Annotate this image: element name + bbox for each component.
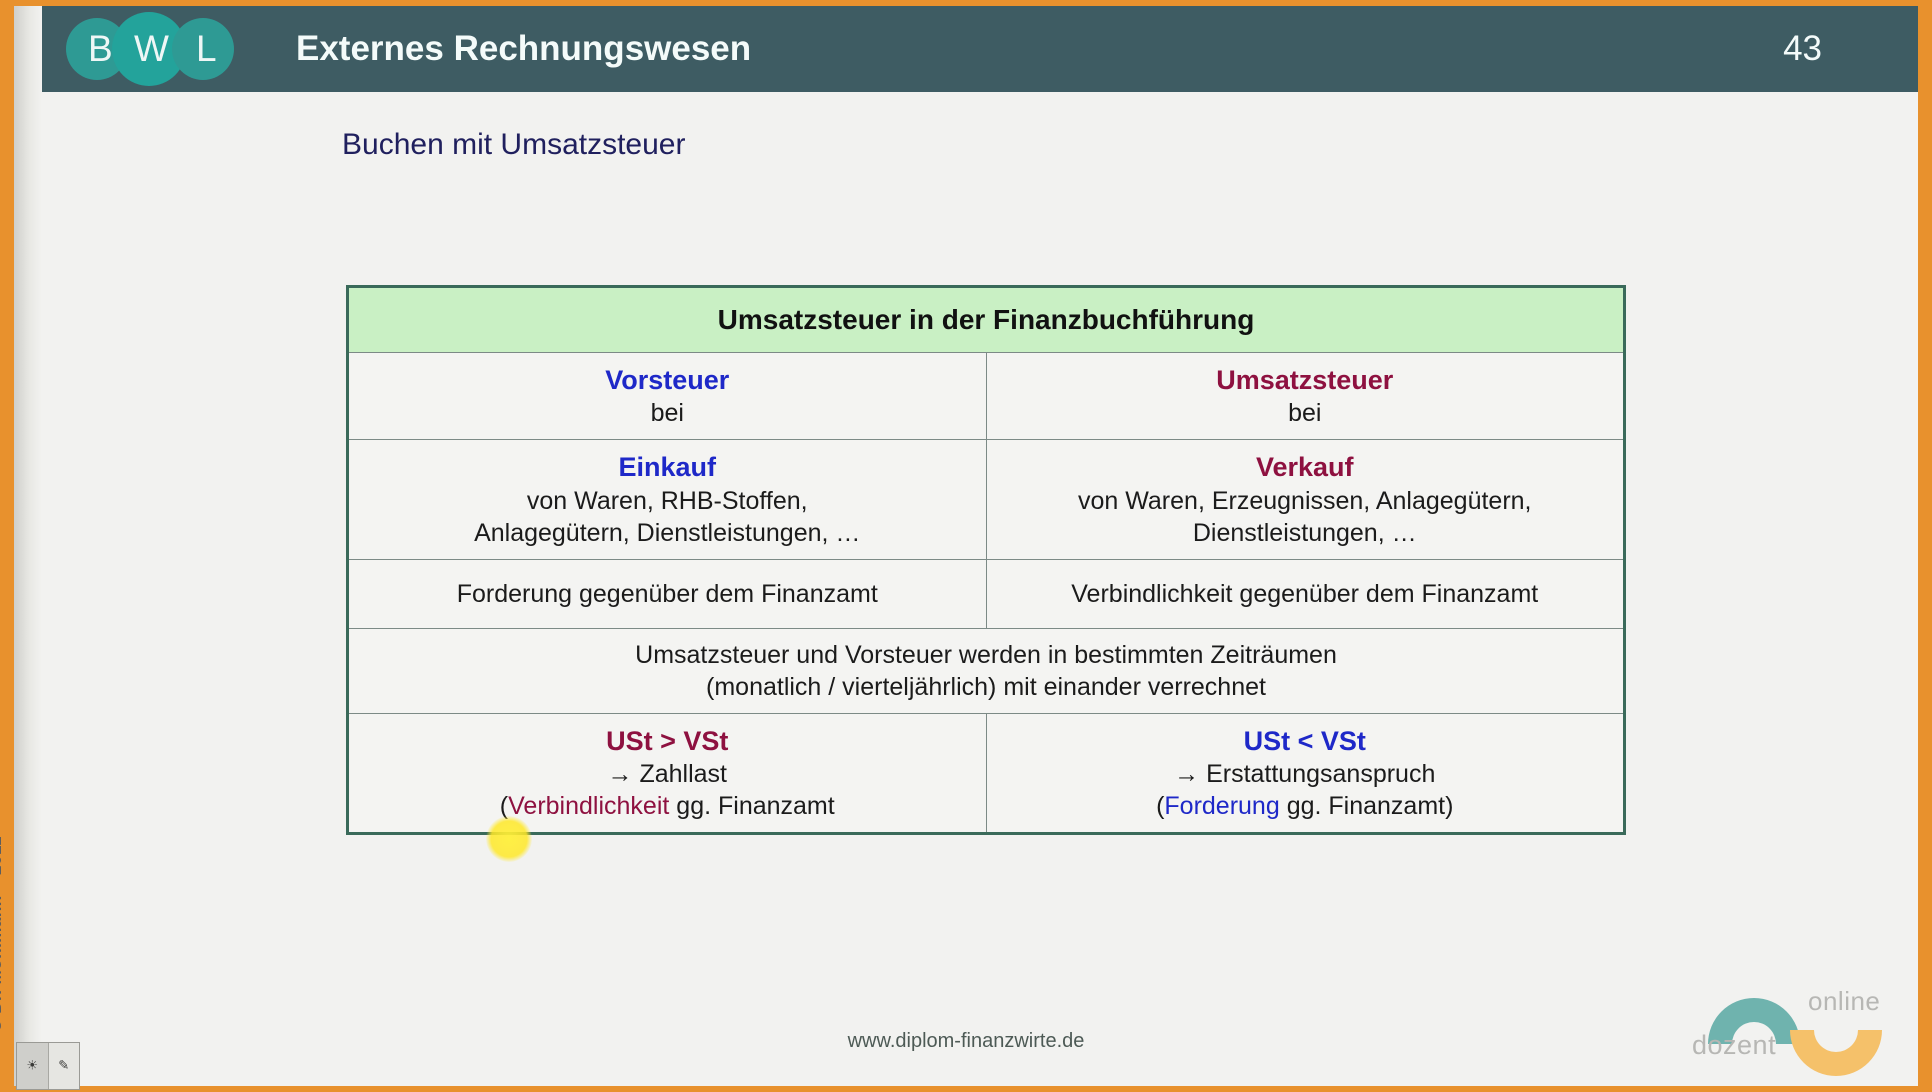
logo-letter-b: B xyxy=(88,28,114,70)
table-title-cell: Umsatzsteuer in der Finanzbuchführung xyxy=(348,287,1625,353)
umsatzsteuer-heading: Umsatzsteuer xyxy=(1001,363,1610,398)
cell-forderung: Forderung gegenüber dem Finanzamt xyxy=(348,559,987,628)
einkauf-line-2: Anlagegütern, Dienstleistungen, … xyxy=(363,517,972,549)
logo-letter-l: L xyxy=(196,28,218,70)
verkauf-heading: Verkauf xyxy=(1001,450,1610,485)
erstattung-line: → Erstattungsanspruch xyxy=(1001,758,1610,790)
verkauf-line-2: Dienstleistungen, … xyxy=(1001,517,1610,549)
table-row: Vorsteuer bei Umsatzsteuer bei xyxy=(348,352,1625,440)
copyright-text: © Dr. Möhlmann – 2011 xyxy=(0,836,6,1032)
verrechnung-line-2: (monatlich / vierteljährlich) mit einand… xyxy=(363,671,1609,703)
paren-open-left: ( xyxy=(500,792,508,820)
table-row-result: USt > VSt → Zahllast (Verbindlichkeit gg… xyxy=(348,713,1625,834)
table-row: Forderung gegenüber dem Finanzamt Verbin… xyxy=(348,559,1625,628)
page-title: Externes Rechnungswesen xyxy=(296,29,751,69)
cell-erstattung: USt < VSt → Erstattungsanspruch (Forderu… xyxy=(986,713,1625,834)
vorsteuer-heading: Vorsteuer xyxy=(363,363,972,398)
cell-umsatzsteuer: Umsatzsteuer bei xyxy=(986,352,1625,440)
bwl-logo: B W L xyxy=(56,6,234,92)
cell-vorsteuer: Vorsteuer bei xyxy=(348,352,987,440)
footer-url: www.diplom-finanzwirte.de xyxy=(0,1030,1932,1053)
verrechnung-line-1: Umsatzsteuer und Vorsteuer werden in bes… xyxy=(363,639,1609,671)
ust-gt-vst-heading: USt > VSt xyxy=(363,724,972,759)
verkauf-line-1: von Waren, Erzeugnissen, Anlagegütern, xyxy=(1001,485,1610,517)
zahllast-paren-line: (Verbindlichkeit gg. Finanzamt xyxy=(363,790,972,822)
pencil-icon: ✎ xyxy=(58,1059,69,1072)
left-gutter xyxy=(14,6,42,1086)
dozent-word: dozent xyxy=(1692,1030,1776,1061)
cell-einkauf: Einkauf von Waren, RHB-Stoffen, Anlagegü… xyxy=(348,440,987,560)
slide-screen: © Dr. Möhlmann – 2011 ☀ ✎ B W L Externes… xyxy=(0,0,1932,1092)
table-row-title: Umsatzsteuer in der Finanzbuchführung xyxy=(348,287,1625,353)
zahllast-tail: gg. Finanzamt xyxy=(669,792,834,820)
cell-zahllast: USt > VSt → Zahllast (Verbindlichkeit gg… xyxy=(348,713,987,834)
dozent-online-logo: dozent online xyxy=(1690,972,1900,1076)
einkauf-line-1: von Waren, RHB-Stoffen, xyxy=(363,485,972,517)
zahllast-line: → Zahllast xyxy=(363,758,972,790)
cell-verkauf: Verkauf von Waren, Erzeugnissen, Anlageg… xyxy=(986,440,1625,560)
page-number: 43 xyxy=(1783,29,1822,69)
ust-lt-vst-heading: USt < VSt xyxy=(1001,724,1610,759)
erstattung-paren-line: (Forderung gg. Finanzamt) xyxy=(1001,790,1610,822)
erstattung-tail: gg. Finanzamt) xyxy=(1280,792,1454,820)
forderung-highlight: Forderung xyxy=(1164,792,1279,820)
umsatzsteuer-table: Umsatzsteuer in der Finanzbuchführung Vo… xyxy=(346,285,1626,835)
table-row-merged: Umsatzsteuer und Vorsteuer werden in bes… xyxy=(348,628,1625,713)
table-row: Einkauf von Waren, RHB-Stoffen, Anlagegü… xyxy=(348,440,1625,560)
logo-letter-w: W xyxy=(134,28,170,70)
vorsteuer-sub: bei xyxy=(363,397,972,429)
online-word: online xyxy=(1808,986,1880,1017)
monitor-icon: ☀ xyxy=(26,1059,38,1072)
verbindlichkeit-highlight: Verbindlichkeit xyxy=(508,792,669,820)
umsatzsteuer-sub: bei xyxy=(1001,397,1610,429)
slide-header: B W L Externes Rechnungswesen 43 xyxy=(42,6,1918,92)
einkauf-heading: Einkauf xyxy=(363,450,972,485)
cell-verbindlichkeit: Verbindlichkeit gegenüber dem Finanzamt xyxy=(986,559,1625,628)
cell-verrechnung: Umsatzsteuer und Vorsteuer werden in bes… xyxy=(348,628,1625,713)
slide-subtitle: Buchen mit Umsatzsteuer xyxy=(342,128,685,162)
right-orange-edge xyxy=(1918,0,1932,1092)
